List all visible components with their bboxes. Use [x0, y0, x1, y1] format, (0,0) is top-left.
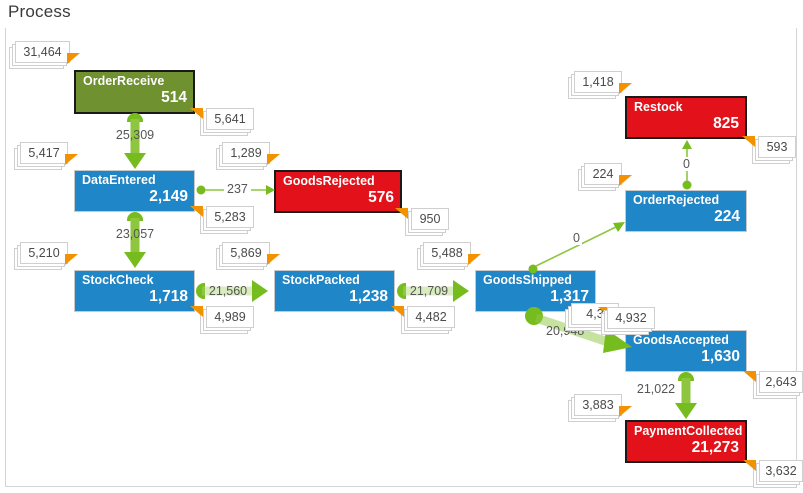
- badge-value: 5,417: [28, 146, 59, 160]
- node-label: OrderRejected: [633, 194, 740, 207]
- node-label: PaymentCollected: [634, 425, 739, 438]
- badge-value: 1,289: [230, 146, 261, 160]
- badge-value: 224: [593, 167, 614, 181]
- badge-value: 5,641: [214, 112, 245, 126]
- node-label: GoodsRejected: [283, 175, 394, 188]
- badge-value: 2,643: [765, 375, 796, 389]
- edge-label: 0: [681, 157, 692, 171]
- node-label: DataEntered: [82, 174, 188, 187]
- node-label: OrderReceive: [83, 75, 187, 88]
- node-paymentcollected[interactable]: PaymentCollected 21,273: [625, 420, 747, 463]
- node-label: GoodsAccepted: [633, 334, 740, 347]
- node-value: 576: [283, 190, 394, 206]
- edge-label: 25,309: [116, 128, 154, 142]
- badge-value: 5,869: [230, 246, 261, 260]
- node-value: 224: [633, 209, 740, 225]
- badge-value: 5,210: [28, 246, 59, 260]
- process-diagram-canvas: Process OrderReceive 514 DataEntered 2,1…: [0, 0, 803, 493]
- badge-value: 5,283: [214, 210, 245, 224]
- badge-value: 3,632: [765, 464, 796, 478]
- edge-label: 0: [571, 231, 582, 245]
- badge-value: 31,464: [23, 45, 61, 59]
- node-value: 21,273: [634, 440, 739, 456]
- badge-value: 593: [767, 140, 788, 154]
- edge-stockcheck-to-stockpacked: 21,560: [196, 278, 274, 304]
- node-label: StockPacked: [282, 274, 388, 287]
- badge-value: 1,418: [582, 75, 613, 89]
- node-goodsaccepted[interactable]: GoodsAccepted 1,630: [625, 330, 747, 372]
- node-value: 1,718: [82, 289, 188, 305]
- badge-value: 5,488: [431, 246, 462, 260]
- node-goodsrejected[interactable]: GoodsRejected 576: [274, 170, 402, 213]
- edge-label: 237: [224, 182, 251, 196]
- node-label: Restock: [634, 101, 739, 114]
- node-value: 1,238: [282, 289, 388, 305]
- edge-stockpacked-to-goodsshipped: 21,709: [397, 278, 475, 304]
- node-label: StockCheck: [82, 274, 188, 287]
- node-orderrejected[interactable]: OrderRejected 224: [625, 190, 747, 232]
- edge-dataentered-to-stockcheck: 23,057: [110, 212, 160, 270]
- node-label: GoodsShipped: [483, 274, 589, 287]
- node-stockpacked[interactable]: StockPacked 1,238: [274, 270, 395, 312]
- edge-label: 23,057: [116, 227, 154, 241]
- node-orderreceive[interactable]: OrderReceive 514: [74, 70, 195, 114]
- badge-value: 950: [420, 212, 441, 226]
- node-dataentered[interactable]: DataEntered 2,149: [74, 170, 195, 212]
- node-value: 514: [83, 90, 187, 106]
- edge-orderreceive-to-dataentered: 25,309: [110, 113, 160, 171]
- edge-label: 21,709: [405, 284, 453, 298]
- node-stockcheck[interactable]: StockCheck 1,718: [74, 270, 195, 312]
- badge-value: 4,932: [615, 311, 646, 325]
- page-title: Process: [8, 2, 71, 22]
- node-value: 2,149: [82, 189, 188, 205]
- edge-orderrejected-to-restock: 0: [672, 139, 702, 191]
- edge-goodsshipped-to-orderrejected: 0: [528, 218, 628, 274]
- edge-label: 21,560: [204, 284, 252, 298]
- node-value: 825: [634, 116, 739, 132]
- node-value: 1,630: [633, 349, 740, 365]
- badge-value: 4,482: [415, 310, 446, 324]
- edge-goodsaccepted-to-paymentcollected: 21,022: [661, 372, 711, 420]
- edge-dataentered-to-goodsrejected: 237: [196, 175, 276, 205]
- badge-value: 4,989: [214, 310, 245, 324]
- node-restock[interactable]: Restock 825: [625, 96, 747, 139]
- edge-label: 21,022: [637, 382, 675, 396]
- badge-value: 3,883: [582, 398, 613, 412]
